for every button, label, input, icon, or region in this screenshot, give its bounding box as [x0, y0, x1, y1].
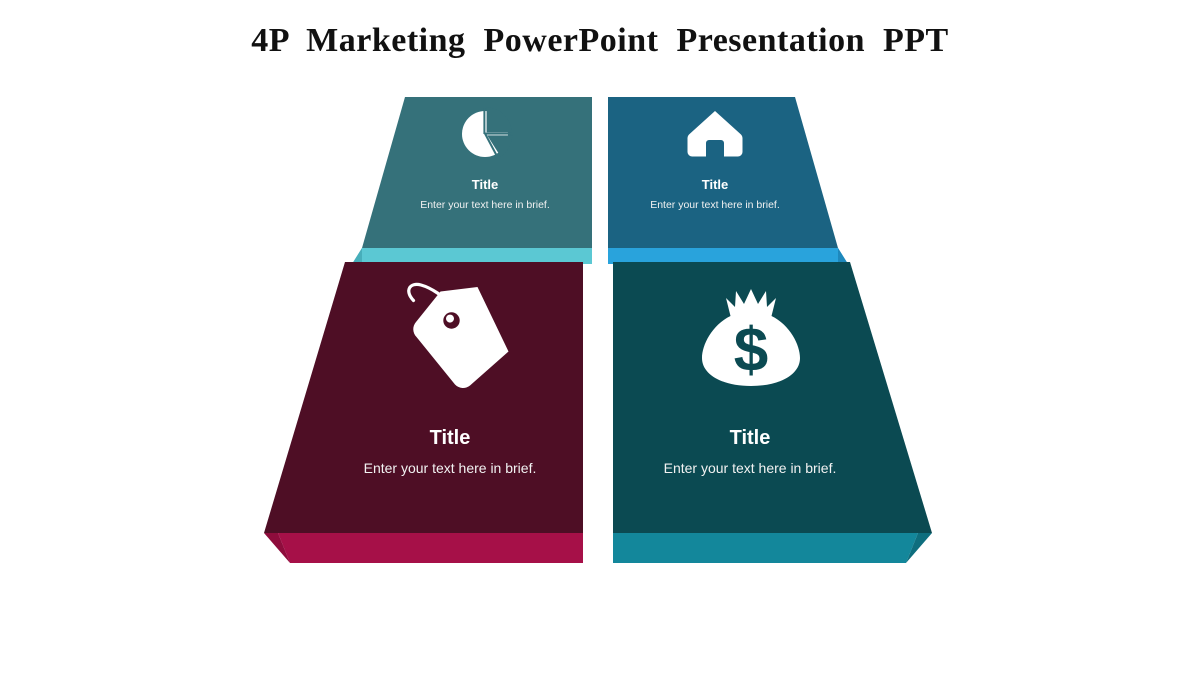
top-right-base-shadow	[838, 248, 848, 264]
quadrant-top-left[interactable]	[352, 97, 592, 264]
top-left-base-shape	[352, 248, 592, 264]
top-left-base-shadow	[352, 248, 362, 264]
four-p-diagram: $	[0, 0, 1200, 675]
quadrant-top-right[interactable]	[608, 97, 848, 264]
bottom-left-base-shape	[278, 533, 583, 563]
svg-text:$: $	[734, 316, 768, 385]
bottom-left-face-shape	[264, 262, 583, 533]
quadrant-bottom-right[interactable]: $	[613, 262, 932, 563]
top-right-base-shape	[608, 248, 848, 264]
slide-canvas: 4P Marketing PowerPoint Presentation PPT	[0, 0, 1200, 675]
bottom-right-base-shape	[613, 533, 918, 563]
quadrant-bottom-left[interactable]	[264, 262, 583, 563]
